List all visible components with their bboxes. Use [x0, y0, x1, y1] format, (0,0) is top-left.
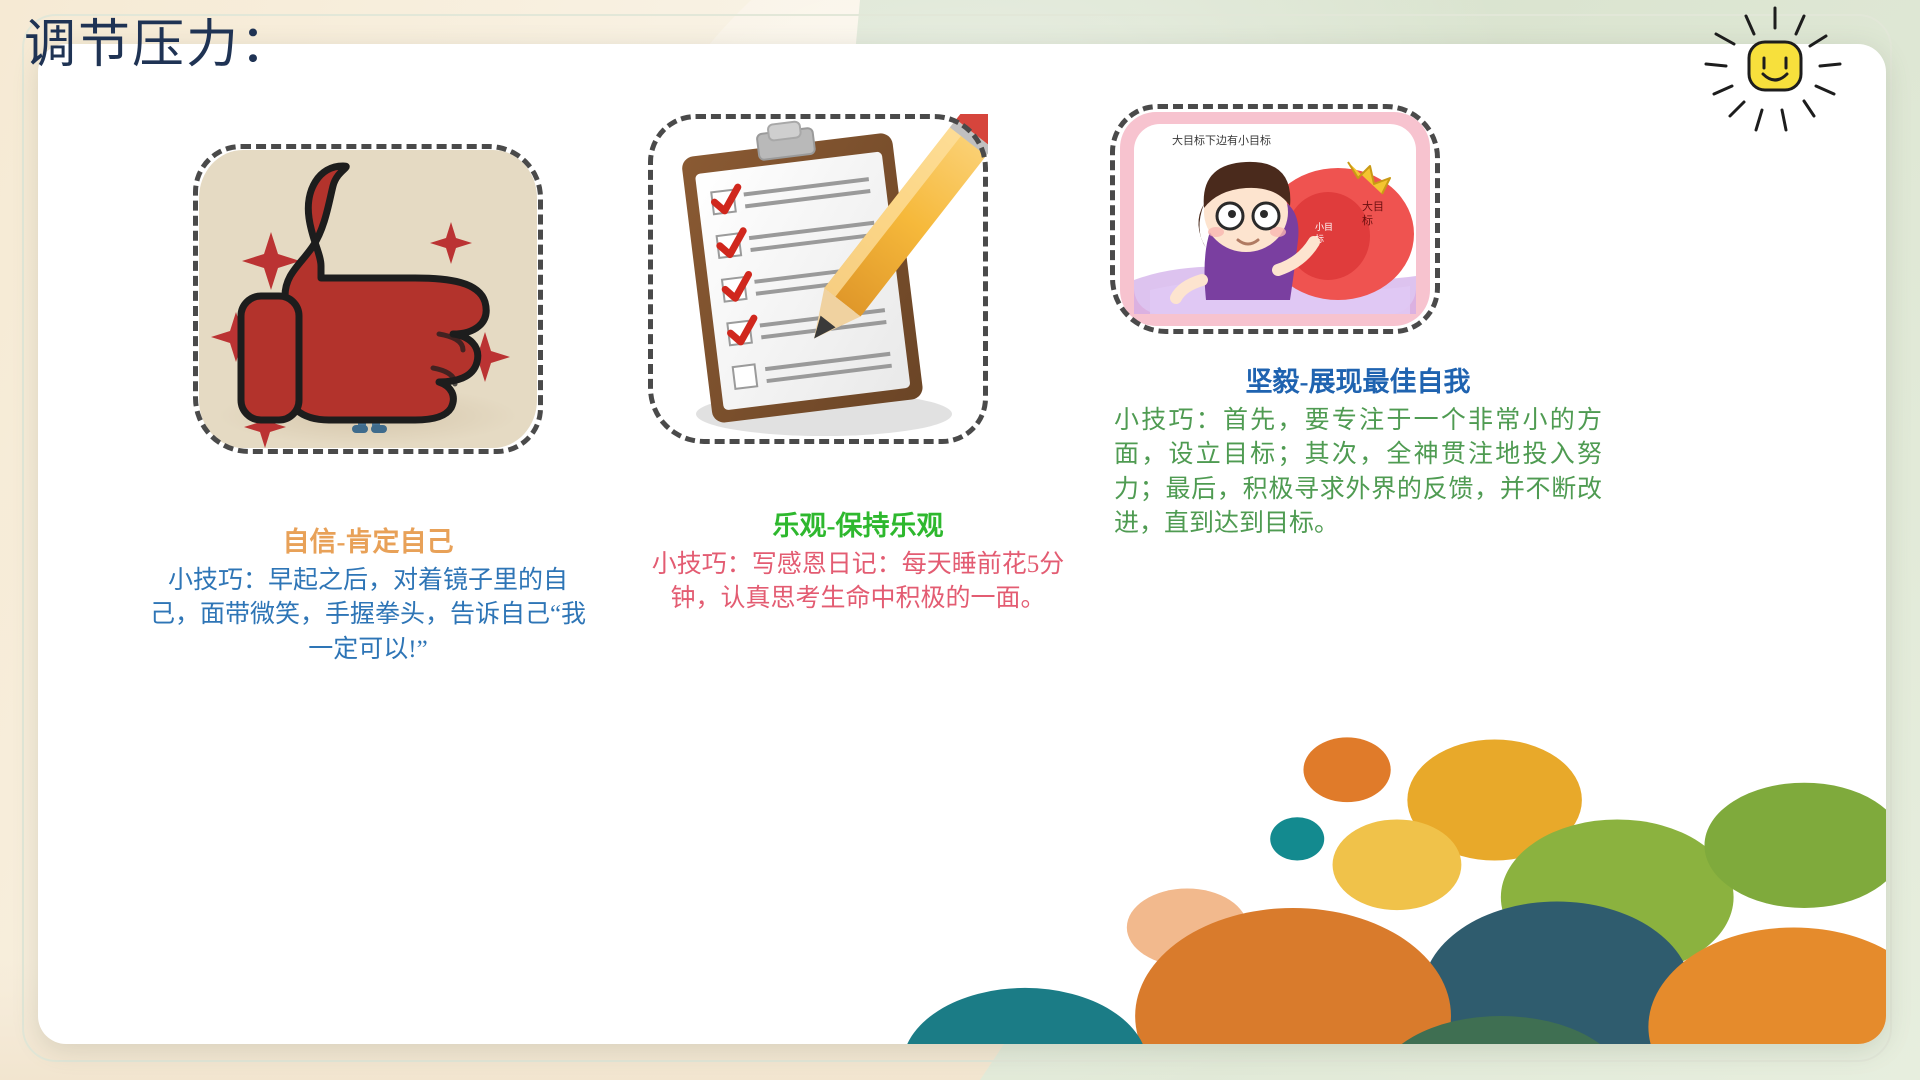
sun-doodle-icon: [1700, 2, 1850, 142]
card-body-grit: 小技巧：首先，要专注于一个非常小的方面，设立目标；其次，全神贯注地投入努力；最后…: [1108, 404, 1608, 542]
illustration-caption: 大目标下边有小目标: [1172, 133, 1271, 147]
card-heading-optimism: 乐观-保持乐观: [628, 510, 1088, 544]
goal-target-girl-illustration: 大目标下边有小目标 大目 标 小目 标: [1110, 104, 1440, 334]
thumbs-up-illustration: [193, 144, 543, 454]
clipboard-checklist-icon: [648, 114, 988, 444]
slide-root: 自信-肯定自己 小技巧：早起之后，对着镜子里的自己，面带微笑，手握拳头，告诉自己…: [0, 0, 1920, 1080]
goal-target-girl-icon: 大目标下边有小目标 大目 标 小目 标: [1110, 104, 1440, 334]
clipboard-checklist-pencil-illustration: [648, 114, 988, 444]
card-body-confidence: 小技巧：早起之后，对着镜子里的自己，面带微笑，手握拳头，告诉自己“我一定可以!”: [138, 564, 598, 668]
page-title: 调节压力：: [24, 2, 294, 77]
card-confidence: 自信-肯定自己 小技巧：早起之后，对着镜子里的自己，面带微笑，手握拳头，告诉自己…: [138, 144, 598, 667]
svg-text:小目: 小目: [1315, 222, 1333, 232]
card-optimism: 乐观-保持乐观 小技巧：写感恩日记：每天睡前花5分钟，认真思考生命中积极的一面。: [628, 114, 1088, 617]
card-grit: 大目标下边有小目标 大目 标 小目 标: [1108, 104, 1608, 542]
thumbs-up-icon: [193, 144, 543, 454]
svg-text:标: 标: [1362, 213, 1373, 227]
content-card: 自信-肯定自己 小技巧：早起之后，对着镜子里的自己，面带微笑，手握拳头，告诉自己…: [38, 44, 1886, 1044]
card-heading-confidence: 自信-肯定自己: [138, 526, 598, 560]
svg-text:大目: 大目: [1362, 199, 1384, 213]
card-body-optimism: 小技巧：写感恩日记：每天睡前花5分钟，认真思考生命中积极的一面。: [628, 548, 1088, 617]
card-heading-grit: 坚毅-展现最佳自我: [1108, 366, 1608, 400]
